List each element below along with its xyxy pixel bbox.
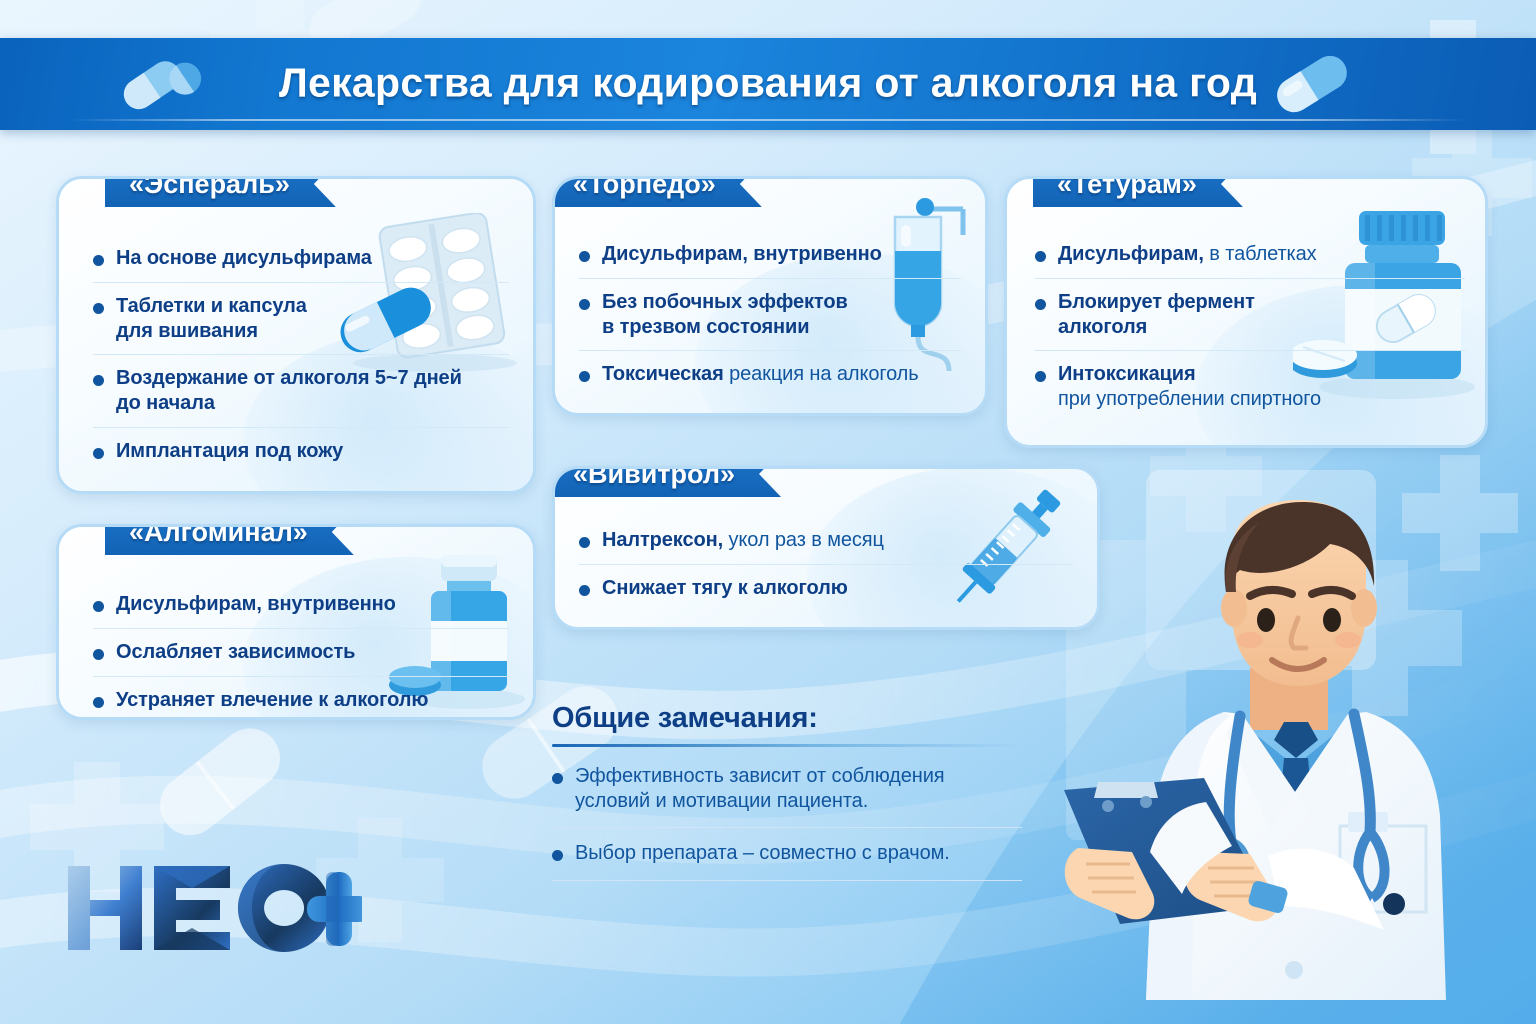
list-item-text-rest: реакция на алкоголь <box>729 363 918 385</box>
bullet-list-torpedo: Дисульфирам, внутривенно Без побочных эф… <box>579 231 961 398</box>
list-item-text: Блокирует фермент <box>1058 291 1255 313</box>
bullet-dot-icon <box>1035 251 1046 262</box>
bullet-dot-icon <box>93 255 104 266</box>
header-banner: Лекарства для кодирования от алкоголя на… <box>0 38 1536 130</box>
notes-divider <box>552 744 1022 747</box>
list-item-text: Имплантация под кожу <box>116 440 343 462</box>
list-item-text-line2: условий и мотивации пациента. <box>575 790 868 812</box>
list-item: На основе дисульфирама <box>93 235 509 282</box>
list-item-text-line2: до начала <box>116 392 215 414</box>
card-teturam: «Тетурам» Дисульфирам, в таблетках Блоки… <box>1004 176 1488 448</box>
list-item-text-rest: в таблетках <box>1204 243 1317 265</box>
bullet-dot-icon <box>579 371 590 382</box>
card-title-ribbon-algominal: «Алгоминал» <box>105 524 354 555</box>
bullet-dot-icon <box>93 375 104 386</box>
infographic-poster: Лекарства для кодирования от алкоголя на… <box>0 0 1536 1024</box>
logo-letter-e <box>154 866 230 950</box>
card-title-teturam: «Тетурам» <box>1057 176 1197 200</box>
list-item: Налтрексон, укол раз в месяц <box>579 517 1073 564</box>
list-item: Токсическая реакция на алкоголь <box>579 350 961 398</box>
card-title-torpedo: «Торпедо» <box>573 176 716 200</box>
bullet-dot-icon <box>1035 371 1046 382</box>
list-item: Интоксикацияпри употреблении спиртного <box>1035 350 1465 423</box>
list-item-text-line2: в трезвом состоянии <box>602 316 809 338</box>
list-item: Дисульфирам, внутривенно <box>579 231 961 278</box>
list-item-text-rest: укол раз в месяц <box>723 529 884 551</box>
doctor-illustration <box>1054 500 1536 1024</box>
list-item: Ослабляет зависимость <box>93 628 509 676</box>
card-vivitrol: «Вивитрол» Налтрексон, укол раз в месяц … <box>552 466 1100 630</box>
list-item: Эффективность зависит от соблюденияуслов… <box>552 751 1022 827</box>
card-title-algominal: «Алгоминал» <box>129 524 308 548</box>
card-algominal: «Алгоминал» Дисульфирам, внутривенно Осл… <box>56 524 536 720</box>
list-item-text: Без побочных эффектов <box>602 291 848 313</box>
list-item: Без побочных эффектовв трезвом состоянии <box>579 278 961 351</box>
bullet-dot-icon <box>93 649 104 660</box>
card-title-ribbon-esperal: «Эспераль» <box>105 176 336 207</box>
list-item: Имплантация под кожу <box>93 427 509 475</box>
list-item: Дисульфирам, в таблетках <box>1035 231 1465 278</box>
list-item-text-line2: при употреблении спиртного <box>1058 388 1321 410</box>
card-title-ribbon-torpedo: «Торпедо» <box>552 176 762 207</box>
card-title-esperal: «Эспераль» <box>129 176 290 200</box>
bullet-list-vivitrol: Налтрексон, укол раз в месяц Снижает тяг… <box>579 517 1073 612</box>
bullet-list-esperal: На основе дисульфирама Таблетки и капсул… <box>93 235 509 475</box>
notes-bottom-divider <box>552 880 1022 881</box>
bullet-dot-icon <box>552 773 563 784</box>
capsule-pill-icon <box>1266 51 1358 117</box>
notes-title: Общие замечания: <box>552 702 1022 735</box>
card-title-ribbon-teturam: «Тетурам» <box>1033 176 1243 207</box>
bullet-dot-icon <box>1035 299 1046 310</box>
list-item-text: На основе дисульфирама <box>116 247 372 269</box>
list-item-text: Ослабляет зависимость <box>116 641 355 663</box>
list-item-text: Интоксикация <box>1058 363 1196 385</box>
list-item-text-line2: для вшивания <box>116 320 258 342</box>
list-item: Устраняет влечение к алкоголю <box>93 676 509 720</box>
logo-letter-n <box>68 866 142 950</box>
list-item: Воздержание от алкоголя 5~7 днейдо начал… <box>93 354 509 427</box>
bullet-dot-icon <box>579 251 590 262</box>
list-item-text: Налтрексон, <box>602 529 723 551</box>
list-item: Выбор препарата – совместно с врачом. <box>552 827 1022 879</box>
list-item-text: Эффективность зависит от соблюдения <box>575 765 945 787</box>
list-item-text: Воздержание от алкоголя 5~7 дней <box>116 367 462 389</box>
list-item-text: Дисульфирам, внутривенно <box>602 243 882 265</box>
bullet-list-algominal: Дисульфирам, внутривенно Ослабляет завис… <box>93 581 509 720</box>
general-notes-section: Общие замечания: Эффективность зависит о… <box>552 702 1022 881</box>
list-item-text-line2: алкоголя <box>1058 316 1147 338</box>
list-item-text: Выбор препарата – совместно с врачом. <box>575 842 950 864</box>
list-item-text: Токсическая <box>602 363 729 385</box>
list-item-text: Устраняет влечение к алкоголю <box>116 689 428 711</box>
bullet-list-teturam: Дисульфирам, в таблетках Блокирует ферме… <box>1035 231 1465 423</box>
card-title-ribbon-vivitrol: «Вивитрол» <box>552 466 781 497</box>
list-item-text: Таблетки и капсула <box>116 295 307 317</box>
bullet-dot-icon <box>579 585 590 596</box>
list-item-text: Дисульфирам, внутривенно <box>116 593 396 615</box>
bullet-dot-icon <box>552 850 563 861</box>
list-item: Дисульфирам, внутривенно <box>93 581 509 628</box>
bullet-dot-icon <box>93 697 104 708</box>
card-esperal: «Эспераль» На основе дисульфирама Таблет… <box>56 176 536 494</box>
list-item: Блокирует ферменталкоголя <box>1035 278 1465 351</box>
brand-logo <box>62 858 362 968</box>
bullet-dot-icon <box>93 448 104 459</box>
list-item: Таблетки и капсуладля вшивания <box>93 282 509 355</box>
list-item-text: Снижает тягу к алкоголю <box>602 577 848 599</box>
bullet-dot-icon <box>93 601 104 612</box>
bullet-dot-icon <box>579 537 590 548</box>
card-title-vivitrol: «Вивитрол» <box>573 466 735 490</box>
bullet-dot-icon <box>93 303 104 314</box>
bullet-dot-icon <box>579 299 590 310</box>
list-item-text: Дисульфирам, <box>1058 243 1204 265</box>
card-torpedo: «Торпедо» Дисульфирам, внутривенно Без п… <box>552 176 988 416</box>
list-item: Снижает тягу к алкоголю <box>579 564 1073 612</box>
